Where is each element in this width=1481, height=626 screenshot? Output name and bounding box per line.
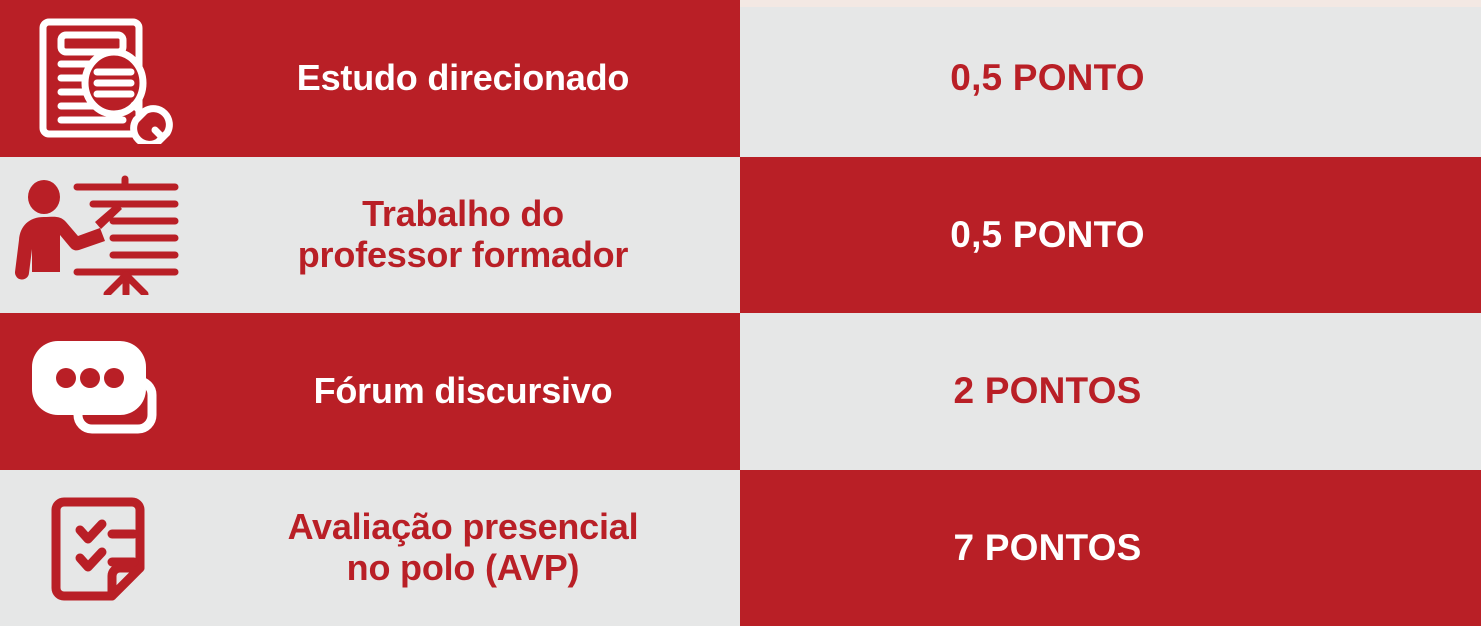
activity-cell: Avaliação presencial no polo (AVP) <box>0 470 740 626</box>
points-cell: 2 PONTOS <box>740 313 1481 470</box>
table-row: Estudo direcionado 0,5 PONTO <box>0 0 1481 157</box>
activity-cell: Fórum discursivo <box>0 313 740 470</box>
activity-cell: Estudo direcionado <box>0 0 740 157</box>
document-magnifier-mouse-icon <box>0 0 200 157</box>
points-value: 0,5 PONTO <box>740 214 1481 256</box>
points-value: 0,5 PONTO <box>740 57 1481 99</box>
table-row: Trabalho do professor formador 0,5 PONTO <box>0 157 1481 314</box>
checklist-document-icon <box>0 470 200 626</box>
top-edge-artifact <box>740 0 1481 7</box>
activity-label: Avaliação presencial no polo (AVP) <box>200 507 740 588</box>
evaluation-points-table: Estudo direcionado 0,5 PONTO <box>0 0 1481 626</box>
table-row: Avaliação presencial no polo (AVP) 7 PON… <box>0 470 1481 626</box>
points-value: 2 PONTOS <box>740 370 1481 412</box>
activity-label: Estudo direcionado <box>200 58 740 98</box>
table-row: Fórum discursivo 2 PONTOS <box>0 313 1481 470</box>
points-cell: 0,5 PONTO <box>740 157 1481 314</box>
activity-label: Fórum discursivo <box>200 371 740 411</box>
chat-bubbles-icon <box>0 313 200 470</box>
activity-cell: Trabalho do professor formador <box>0 157 740 314</box>
points-cell: 7 PONTOS <box>740 470 1481 626</box>
points-value: 7 PONTOS <box>740 527 1481 569</box>
activity-label: Trabalho do professor formador <box>200 194 740 275</box>
teacher-presentation-board-icon <box>0 157 200 314</box>
points-cell: 0,5 PONTO <box>740 0 1481 157</box>
